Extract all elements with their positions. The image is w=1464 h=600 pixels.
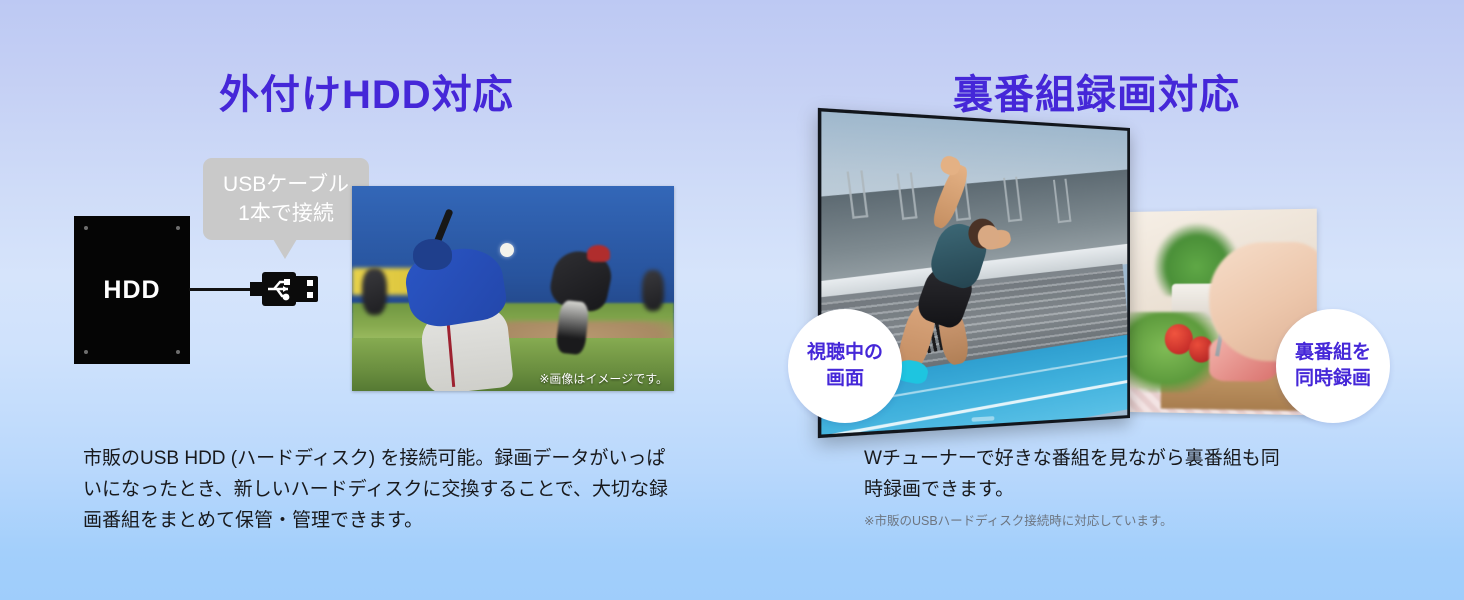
screw-icon [176, 350, 180, 354]
badge-recording-line-1: 裏番組を [1295, 341, 1371, 365]
bubble-line-2: 1本で接続 [238, 201, 334, 227]
right-panel-body-text: Wチューナーで好きな番組を見ながら裏番組も同時録画できます。 [864, 443, 1284, 505]
bubble-tail [273, 239, 297, 259]
hdd-device-label: HDD [103, 276, 160, 305]
badge-recording-line-2: 同時録画 [1295, 367, 1371, 391]
photo-fielder-left [362, 268, 388, 315]
photo-disclaimer-caption: ※画像はイメージです。 [539, 370, 668, 387]
screw-icon [84, 226, 88, 230]
left-panel-heading: 外付けHDD対応 [219, 62, 514, 120]
badge-watching-line-1: 視聴中の [807, 341, 883, 365]
feature-panel-page: 外付けHDD対応 HDD USBケーブル 1本で接続 [0, 0, 1464, 600]
screw-icon [176, 226, 180, 230]
bubble-line-1: USBケーブル [223, 172, 349, 198]
badge-watching-line-2: 画面 [826, 367, 864, 391]
right-panel-footnote: ※市販のUSBハードディスク接続時に対応しています。 [864, 512, 1173, 530]
usb-connector-icon [250, 268, 318, 310]
right-panel-heading: 裏番組録画対応 [953, 62, 1240, 120]
screw-icon [84, 350, 88, 354]
baseball-photo: ※画像はイメージです。 [352, 186, 674, 391]
photo-fielder-right [642, 270, 665, 311]
hdd-device-illustration: HDD [74, 216, 190, 364]
left-panel-body-text: 市販のUSB HDD (ハードディスク) を接続可能。録画データがいっぱいになっ… [83, 443, 683, 536]
photo-batter-helmet [413, 239, 452, 270]
photo-pitcher-cap [587, 245, 610, 261]
usb-cable-line [189, 288, 253, 291]
usb-cable-callout-bubble: USBケーブル 1本で接続 [203, 158, 369, 240]
screen-athlete-face [978, 224, 999, 248]
badge-watching-screen: 視聴中の 画面 [788, 309, 902, 423]
badge-simultaneous-recording: 裏番組を 同時録画 [1276, 309, 1390, 423]
